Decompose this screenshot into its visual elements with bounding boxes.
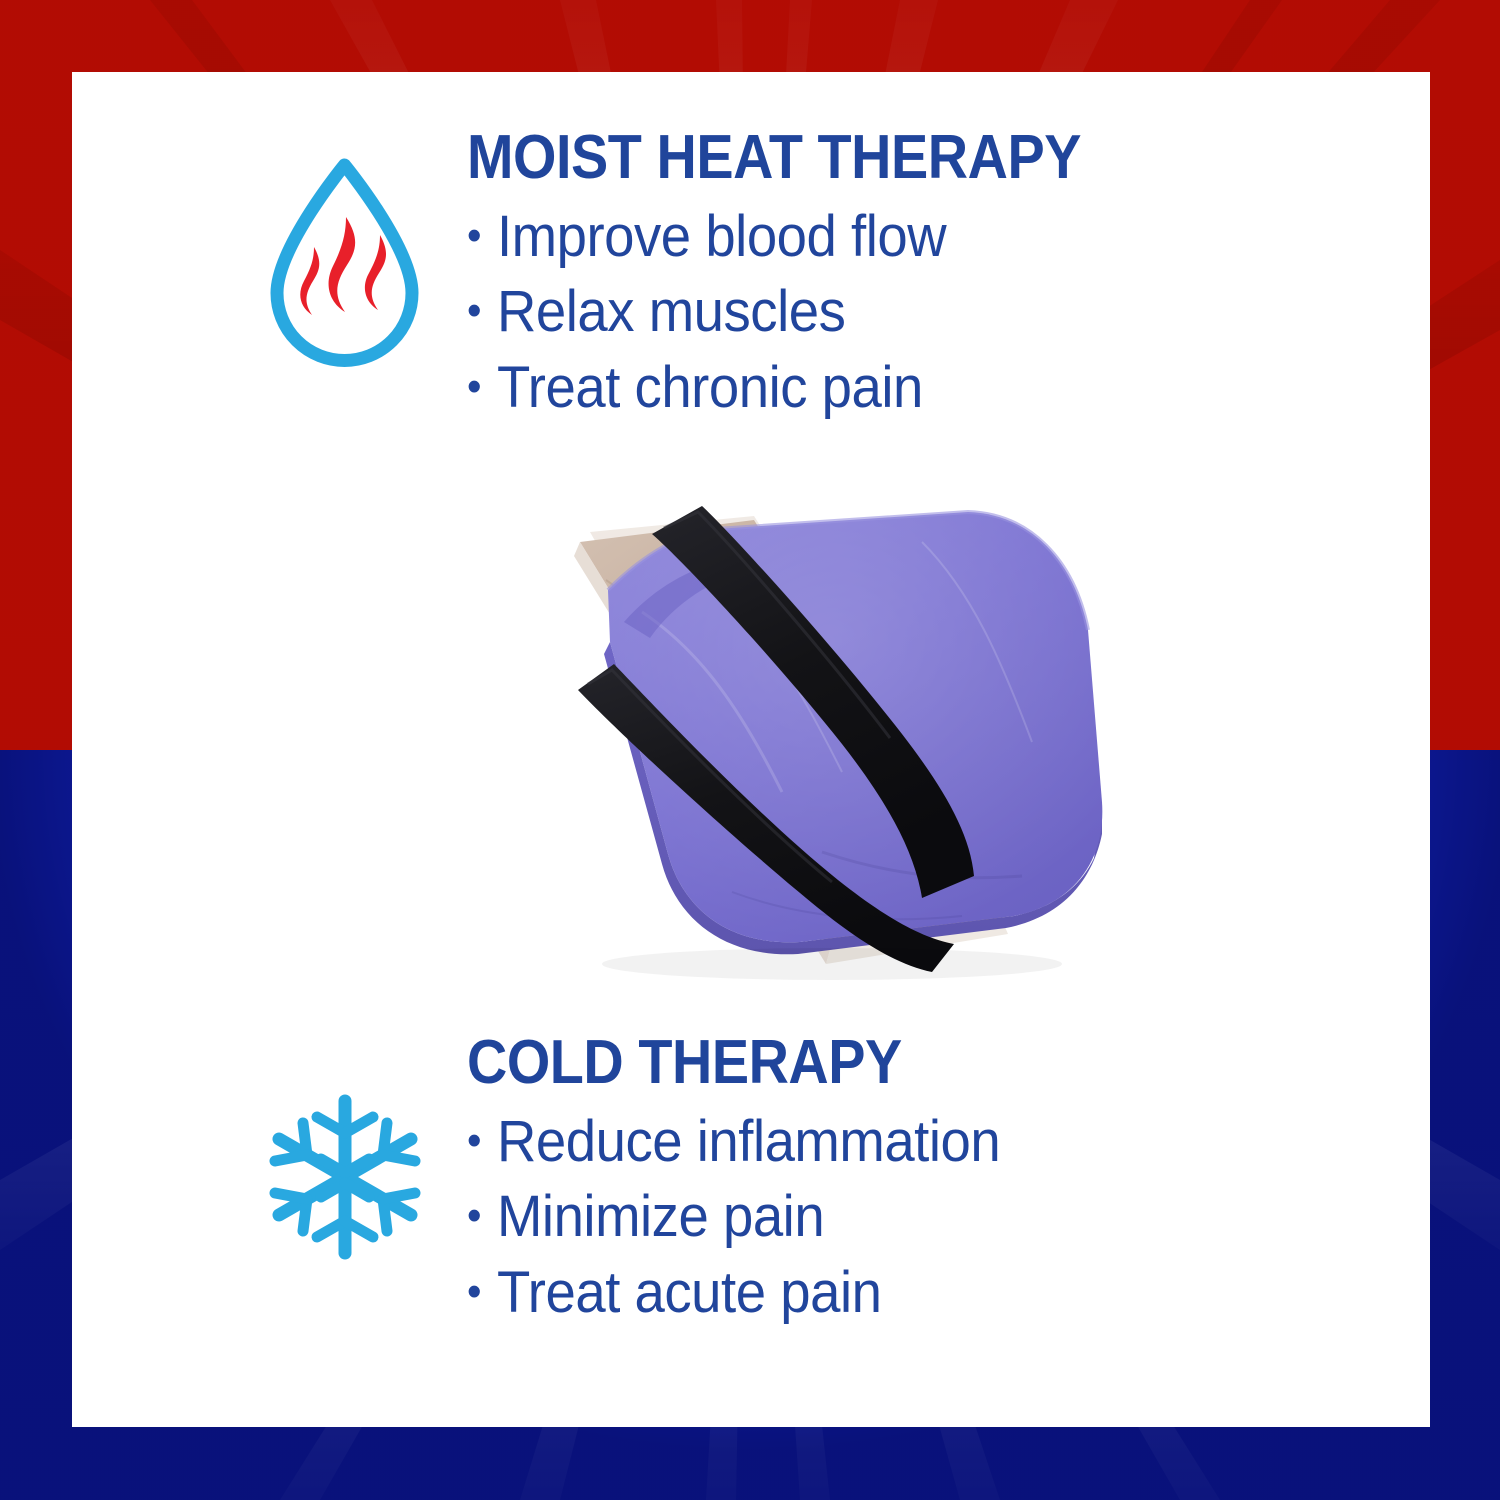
text-column-cold: COLD THERAPY • Reduce inflammation • Min…: [467, 1032, 1342, 1330]
bullet-text: Treat chronic pain: [497, 350, 923, 425]
content-card: MOIST HEAT THERAPY • Improve blood flow …: [72, 72, 1430, 1427]
bullet-dot: •: [467, 365, 481, 409]
text-column-heat: MOIST HEAT THERAPY • Improve blood flow …: [467, 127, 1342, 425]
list-item: • Relax muscles: [467, 274, 1290, 349]
bullet-text: Improve blood flow: [497, 199, 946, 274]
list-item: • Treat acute pain: [467, 1255, 1290, 1330]
bullet-list-cold: • Reduce inflammation • Minimize pain • …: [467, 1104, 1342, 1330]
heading-cold-therapy: COLD THERAPY: [467, 1032, 1255, 1094]
icon-column-heat: [222, 127, 467, 370]
icon-column-cold: [222, 1032, 467, 1267]
list-item: • Improve blood flow: [467, 199, 1290, 274]
product-image-hot-cold-gel-pack: [402, 472, 1192, 1002]
bullet-dot: •: [467, 1119, 481, 1163]
list-item: • Treat chronic pain: [467, 350, 1290, 425]
bullet-text: Relax muscles: [497, 274, 845, 349]
bullet-dot: •: [467, 1270, 481, 1314]
bullet-text: Reduce inflammation: [497, 1104, 1000, 1179]
bullet-text: Minimize pain: [497, 1179, 824, 1254]
section-cold-therapy: COLD THERAPY • Reduce inflammation • Min…: [222, 1032, 1342, 1330]
snowflake-icon: [255, 1087, 435, 1267]
bullet-dot: •: [467, 214, 481, 258]
bullet-list-heat: • Improve blood flow • Relax muscles • T…: [467, 199, 1342, 425]
water-drop-with-flames-icon: [262, 155, 427, 370]
heading-moist-heat-therapy: MOIST HEAT THERAPY: [467, 127, 1255, 189]
bullet-text: Treat acute pain: [497, 1255, 881, 1330]
bullet-dot: •: [467, 289, 481, 333]
infographic-canvas: MOIST HEAT THERAPY • Improve blood flow …: [0, 0, 1500, 1500]
section-moist-heat-therapy: MOIST HEAT THERAPY • Improve blood flow …: [222, 127, 1342, 425]
list-item: • Minimize pain: [467, 1179, 1290, 1254]
list-item: • Reduce inflammation: [467, 1104, 1290, 1179]
bullet-dot: •: [467, 1194, 481, 1238]
